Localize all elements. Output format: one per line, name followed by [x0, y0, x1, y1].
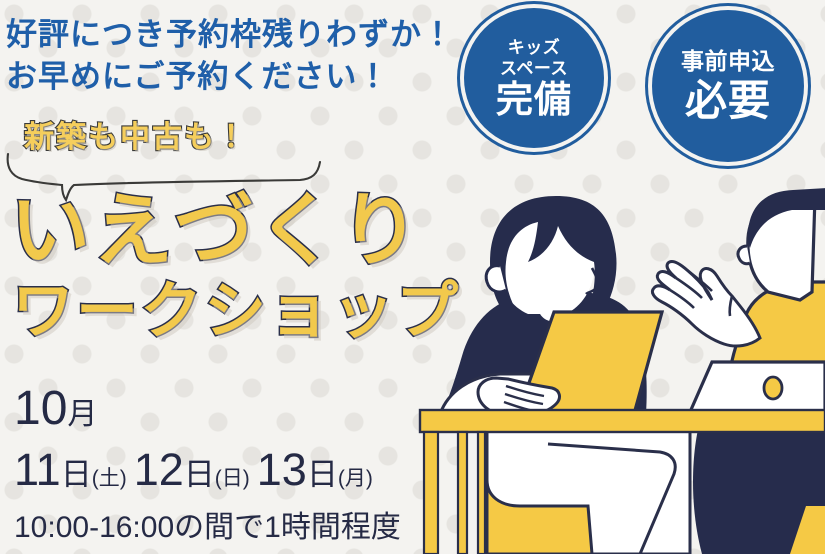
laptop	[690, 362, 825, 412]
main-title-line1: いえづくり	[0, 186, 430, 276]
date-month-unit: 月	[67, 398, 97, 431]
chairs	[487, 414, 825, 554]
date-day-3: 13日(月)	[257, 444, 373, 495]
person-left	[440, 196, 662, 417]
badge-advance-application[interactable]: 事前申込 必要	[652, 10, 804, 162]
headline-text: 好評につき予約枠残りわずか！ お早めにご予約ください！	[6, 14, 454, 98]
date-days: 11日(土)12日(日)13日(月)	[14, 442, 401, 507]
date-month-number: 10	[14, 382, 67, 435]
date-day-2: 12日(日)	[134, 444, 250, 495]
date-block: 10月 11日(土)12日(日)13日(月) 10:00-16:00の間で1時間…	[14, 382, 401, 548]
person-right	[652, 186, 825, 470]
badge-kids-space-small: キッズ スペース	[500, 37, 568, 79]
subheadline-group: 新築も中古も！	[0, 112, 360, 192]
date-time-note: 10:00-16:00の間で1時間程度	[14, 508, 401, 548]
date-day-1: 11日(土)	[14, 444, 127, 495]
promo-banner: 好評につき予約枠残りわずか！ お早めにご予約ください！ キッズ スペース 完備 …	[0, 0, 825, 554]
subheadline-text: 新築も中古も！	[24, 112, 248, 156]
main-title-line2: ワークショップ	[0, 276, 430, 348]
badge-advance-application-big: 必要	[685, 78, 771, 124]
date-month: 10月	[14, 382, 401, 442]
badge-advance-application-small: 事前申込	[681, 48, 775, 74]
badge-kids-space[interactable]: キッズ スペース 完備	[464, 8, 604, 148]
gesturing-hand	[652, 261, 760, 346]
table	[420, 410, 825, 554]
main-title: いえづくり ワークショップ	[0, 186, 430, 348]
badge-kids-space-big: 完備	[496, 80, 572, 120]
